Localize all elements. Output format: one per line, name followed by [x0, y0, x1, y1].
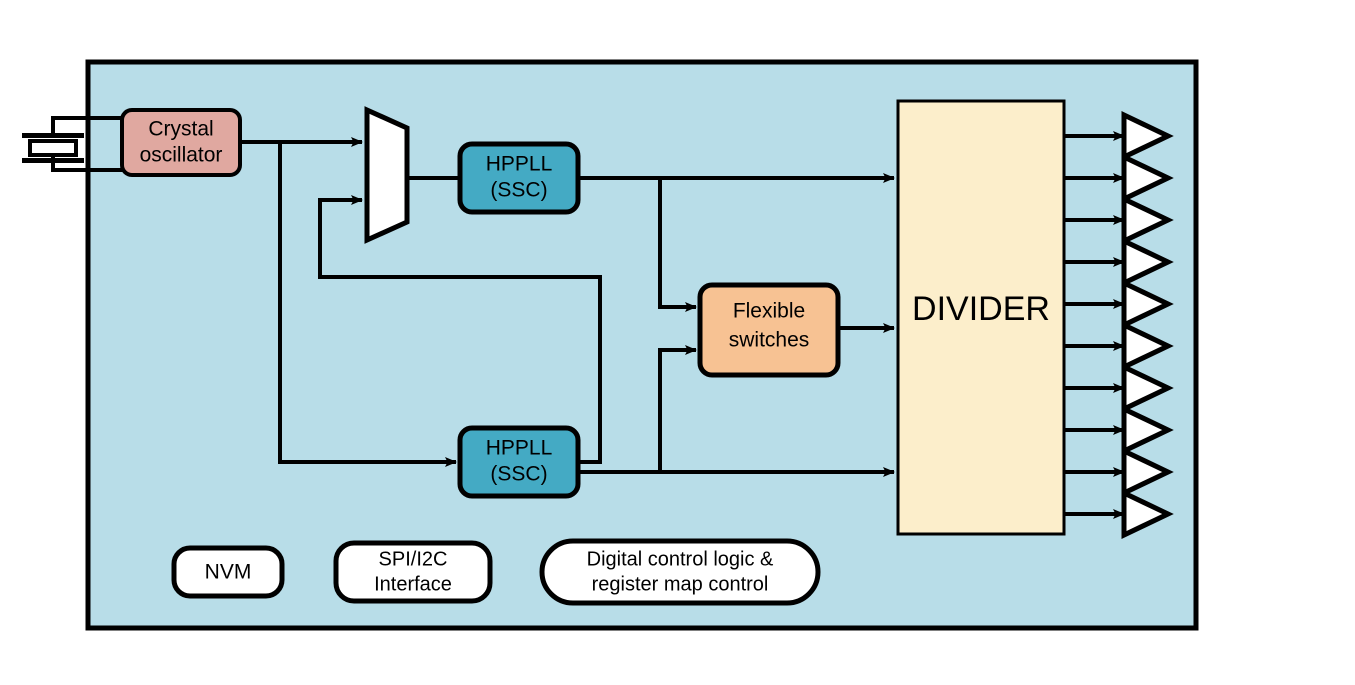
digital-control-logic-label-line1: Digital control logic & [587, 548, 774, 570]
hppll-top-label-line1: HPPLL [486, 153, 553, 176]
clock-generator-diagram: Crystal oscillator HPPLL (SSC) [0, 0, 1355, 685]
divider-block[interactable]: DIVIDER [898, 101, 1064, 534]
hppll-top-label-line2: (SSC) [490, 179, 547, 202]
divider-label: DIVIDER [912, 290, 1050, 328]
hppll-top-block[interactable]: HPPLL (SSC) [460, 144, 578, 212]
crystal-oscillator-label-line1: Crystal [148, 118, 213, 141]
multiplexer-shape[interactable] [367, 110, 407, 240]
flexible-switches-block[interactable]: Flexible switches [700, 285, 838, 375]
nvm-label: NVM [205, 561, 252, 584]
spi-i2c-interface-label-line2: Interface [374, 573, 452, 595]
crystal-oscillator-label-line2: oscillator [140, 144, 223, 167]
digital-control-logic-label-line2: register map control [592, 573, 769, 595]
hppll-bottom-label-line1: HPPLL [486, 437, 553, 460]
multiplexer-block[interactable] [367, 110, 407, 240]
flexible-switches-label-line1: Flexible [733, 300, 805, 323]
spi-i2c-interface-label-line1: SPI/I2C [379, 548, 448, 570]
hppll-bottom-block[interactable]: HPPLL (SSC) [460, 428, 578, 496]
spi-i2c-interface-block[interactable]: SPI/I2C Interface [336, 543, 490, 601]
block-diagram-canvas: Crystal oscillator HPPLL (SSC) [0, 0, 1355, 685]
digital-control-logic-block[interactable]: Digital control logic & register map con… [542, 541, 818, 603]
crystal-oscillator-block[interactable]: Crystal oscillator [122, 110, 240, 175]
hppll-bottom-label-line2: (SSC) [490, 463, 547, 486]
nvm-block[interactable]: NVM [174, 548, 282, 596]
flexible-switches-label-line2: switches [729, 329, 810, 352]
